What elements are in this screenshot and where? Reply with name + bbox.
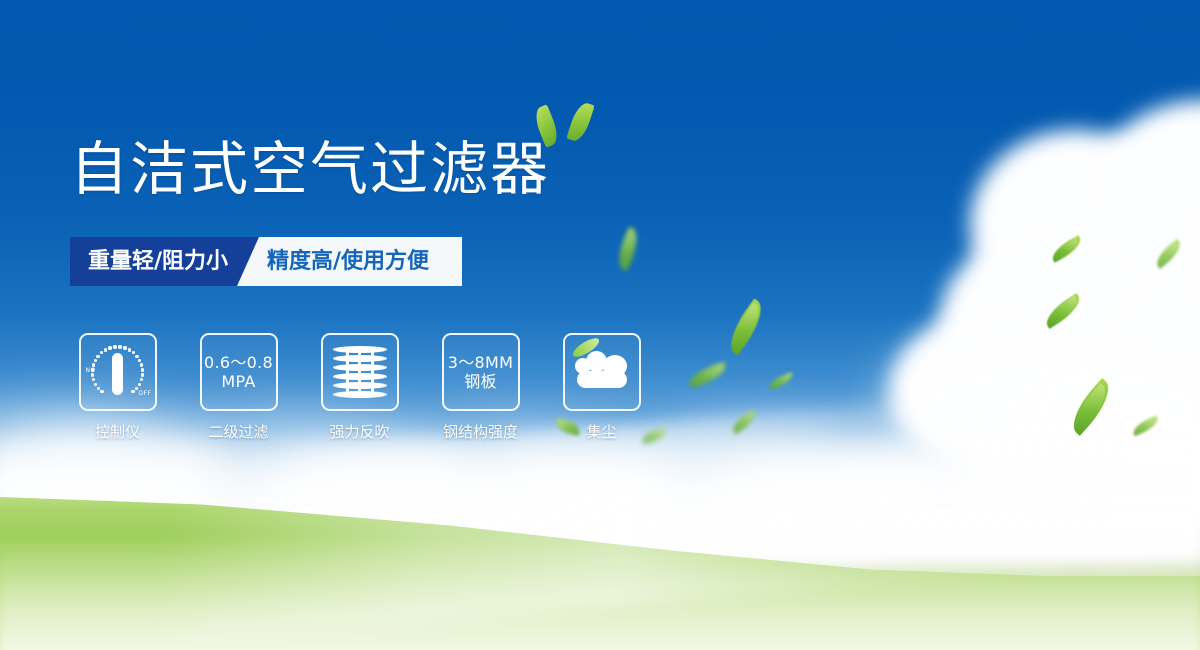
gauge-tick-dot [94,359,97,362]
feature-icon-box [321,333,399,411]
feature-label: 强力反吹 [329,421,389,442]
gauge-tick-dot [92,378,95,381]
feature-icon-box: 0.6～0.8 MPA [200,333,278,411]
stack-disc [333,373,387,380]
gauge-off-label: OFF [138,390,151,397]
gauge-tick-dot [108,346,111,349]
feature-list: NO OFF 控制仪 0.6～0.8 MPA 二级过滤 [70,333,649,442]
gauge-tick-dot [138,359,141,362]
filter-stack-icon [333,345,387,399]
title-block: 自洁式空气过滤器 [70,140,550,198]
feature-icon-box: 3～8MM 钢板 [442,333,520,411]
stack-disc [333,364,387,371]
gauge-tick-dot [104,348,107,351]
slogan-left-text: 重量轻/阻力小 [88,237,228,286]
hero-banner: 自洁式空气过滤器 重量轻/阻力小 精度高/使用方便 NO OFF 控制仪 0.6… [0,0,1200,650]
air-cloud-icon: Air [573,350,631,390]
feature-label: 集尘 [586,421,616,442]
steel-thickness: 3～8MM [448,353,513,372]
stack-disc [333,346,387,353]
feature-item-backflush[interactable]: 强力反吹 [312,333,407,442]
gauge-tick-dot [140,378,143,381]
feature-label: 控制仪 [95,421,140,442]
falling-leaf [612,227,644,272]
gauge-tick-dot [96,355,99,358]
gauge-tick-dot [132,351,135,354]
feature-label: 二级过滤 [208,421,268,442]
falling-leaf [686,362,729,389]
pressure-text-icon: 0.6～0.8 MPA [204,353,273,391]
feature-item-dust-collection[interactable]: Air 集尘 [554,333,649,442]
gauge-tick-dot [141,373,144,376]
slogan-right-text: 精度高/使用方便 [267,237,429,286]
falling-leaf [767,372,795,390]
gauge-tick-dot [128,348,131,351]
falling-leaf [721,298,770,355]
gauge-tick-dot [138,383,141,386]
gauge-tick-dot [113,345,116,348]
gauge-tick-dot [140,363,143,366]
air-label: Air [573,369,631,384]
pressure-value: 0.6～0.8 [204,353,273,372]
steel-material: 钢板 [448,372,513,391]
feature-label: 钢结构强度 [443,421,518,442]
pressure-unit: MPA [204,372,273,391]
gauge-tick-dot [91,368,94,371]
sprout-leaves-icon [532,98,602,150]
gauge-tick-dot [118,345,121,348]
gauge-tick-dot [135,387,138,390]
feature-item-steel-strength[interactable]: 3～8MM 钢板 钢结构强度 [433,333,528,442]
gauge-tick-dot [100,351,103,354]
stack-disc [333,355,387,362]
gauge-tick-dot [141,368,144,371]
gauge-tick-dot [123,346,126,349]
gauge-tick-dot [100,390,103,393]
feature-icon-box: Air [563,333,641,411]
gauge-tick-dot [92,363,95,366]
gauge-tick-dot [131,390,134,393]
gauge-dial-icon: NO OFF [87,341,149,403]
gauge-tick-dot [91,373,94,376]
page-title: 自洁式空气过滤器 [70,140,550,198]
steel-plate-text-icon: 3～8MM 钢板 [448,353,513,391]
field-foreground-glow [0,540,1200,650]
stack-disc [333,382,387,389]
feature-item-two-stage-filter[interactable]: 0.6～0.8 MPA 二级过滤 [191,333,286,442]
gauge-tick-dot [135,355,138,358]
feature-item-controller[interactable]: NO OFF 控制仪 [70,333,165,442]
sprout-leaf-left [531,104,562,147]
stack-disc [333,391,387,398]
sprout-leaf-right [566,100,595,143]
slogan-bar: 重量轻/阻力小 精度高/使用方便 [70,237,462,286]
gauge-needle [112,353,123,395]
gauge-tick-dot [94,383,97,386]
feature-icon-box: NO OFF [79,333,157,411]
